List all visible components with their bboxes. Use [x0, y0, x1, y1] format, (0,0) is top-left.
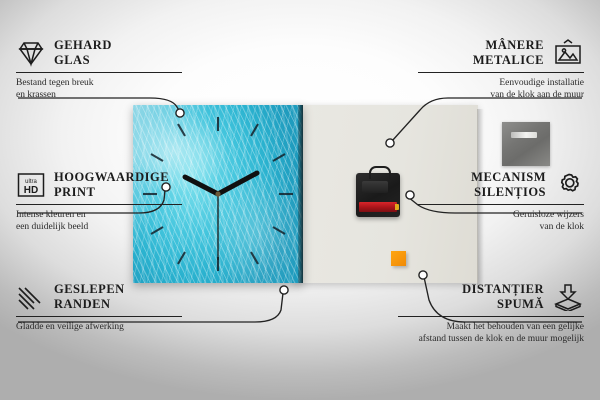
connector-dot-gehard-glas: [176, 109, 184, 117]
connector-lines: [0, 0, 600, 400]
connector-dot-print: [162, 183, 170, 191]
connector-dot-manere: [386, 139, 394, 147]
product-infographic: GEHARD GLAS Bestand tegen breuk en krass…: [0, 0, 600, 400]
connector-dot-distantier: [419, 271, 427, 279]
connector-dot-randen: [280, 286, 288, 294]
connector-dot-mecanism: [406, 191, 414, 199]
